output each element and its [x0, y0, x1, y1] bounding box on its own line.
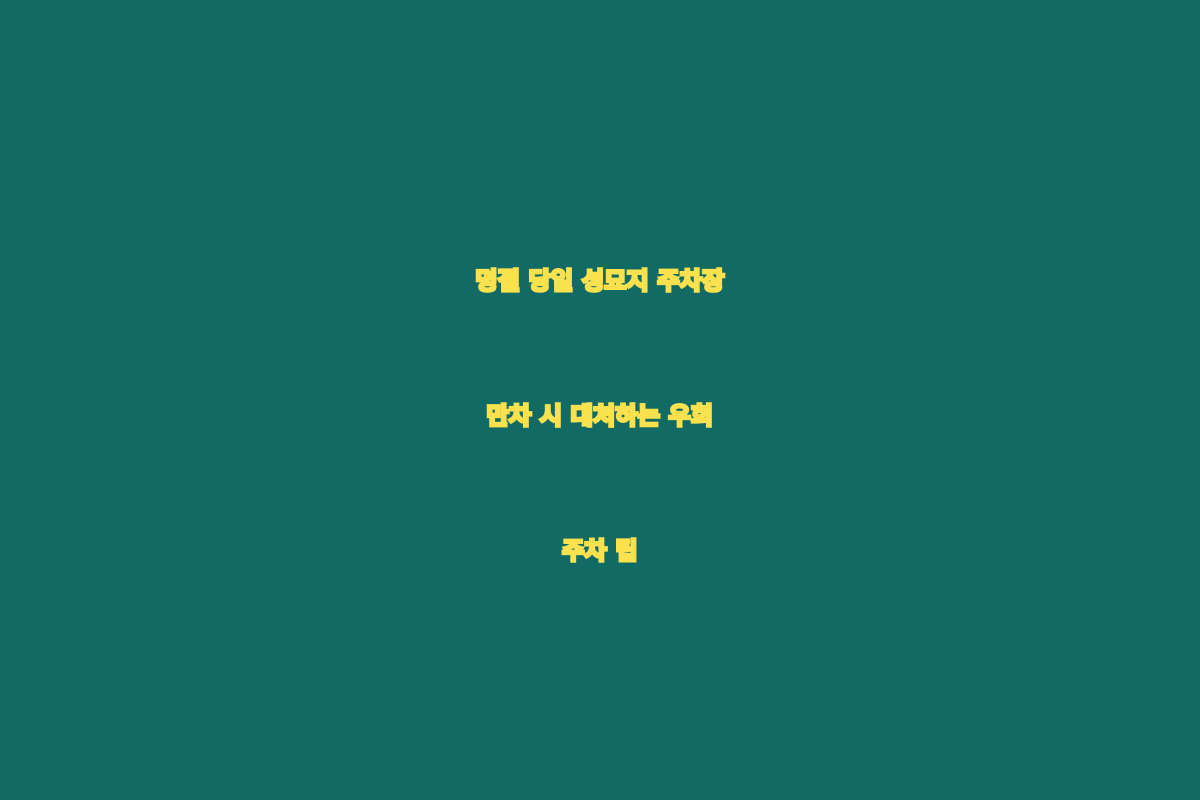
headline-line-1: 명절 당일 성묘지 주차장 — [50, 214, 1150, 349]
thumbnail-card: 명절 당일 성묘지 주차장 만차 시 대처하는 우회 주차 팁 — [0, 0, 1200, 800]
headline-line-2: 만차 시 대처하는 우회 — [50, 349, 1150, 484]
headline-block: 명절 당일 성묘지 주차장 만차 시 대처하는 우회 주차 팁 — [50, 214, 1150, 619]
headline-line-3: 주차 팁 — [50, 484, 1150, 619]
